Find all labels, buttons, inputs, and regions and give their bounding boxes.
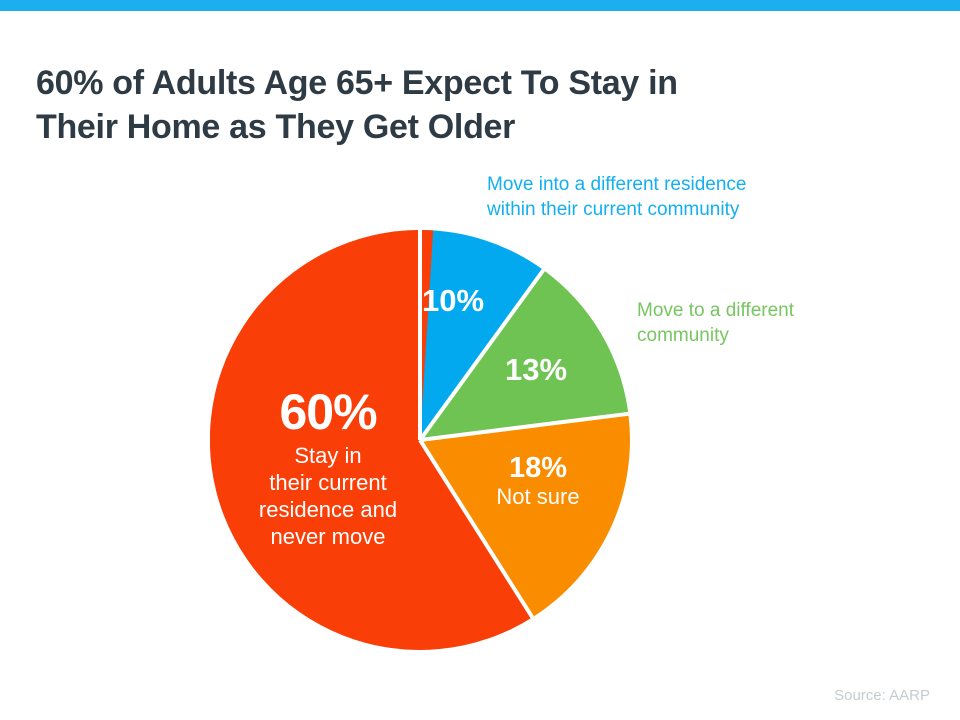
slice-caption-orange: Not sure [463,484,613,510]
slice-label-not-sure: 18% Not sure [463,452,613,510]
callout-green-line-2: community [637,325,729,346]
slice-value-red: 60% [228,384,428,440]
source-attribution: Source: AARP [834,687,930,704]
slice-caption-red: Stay in their current residence and neve… [228,440,428,550]
slice-value-green: 13% [481,352,591,388]
slice-caption-red-line-3: residence and [259,497,397,522]
slice-value-blue: 10% [398,283,508,319]
slice-caption-red-line-4: never move [271,524,386,549]
callout-move-within-community: Move into a different residence within t… [487,172,837,222]
pie-chart: Move into a different residence within t… [0,0,960,720]
callout-green-line-1: Move to a different [637,300,794,321]
slice-caption-red-line-1: Stay in [294,443,361,468]
callout-blue-line-1: Move into a different residence [487,174,746,195]
slice-label-stay-never-move: 60% Stay in their current residence and … [228,384,428,550]
callout-blue-line-2: within their current community [487,199,739,220]
callout-move-different-community: Move to a different community [637,298,867,348]
slice-value-orange: 18% [463,452,613,484]
slice-caption-red-line-2: their current [269,470,386,495]
